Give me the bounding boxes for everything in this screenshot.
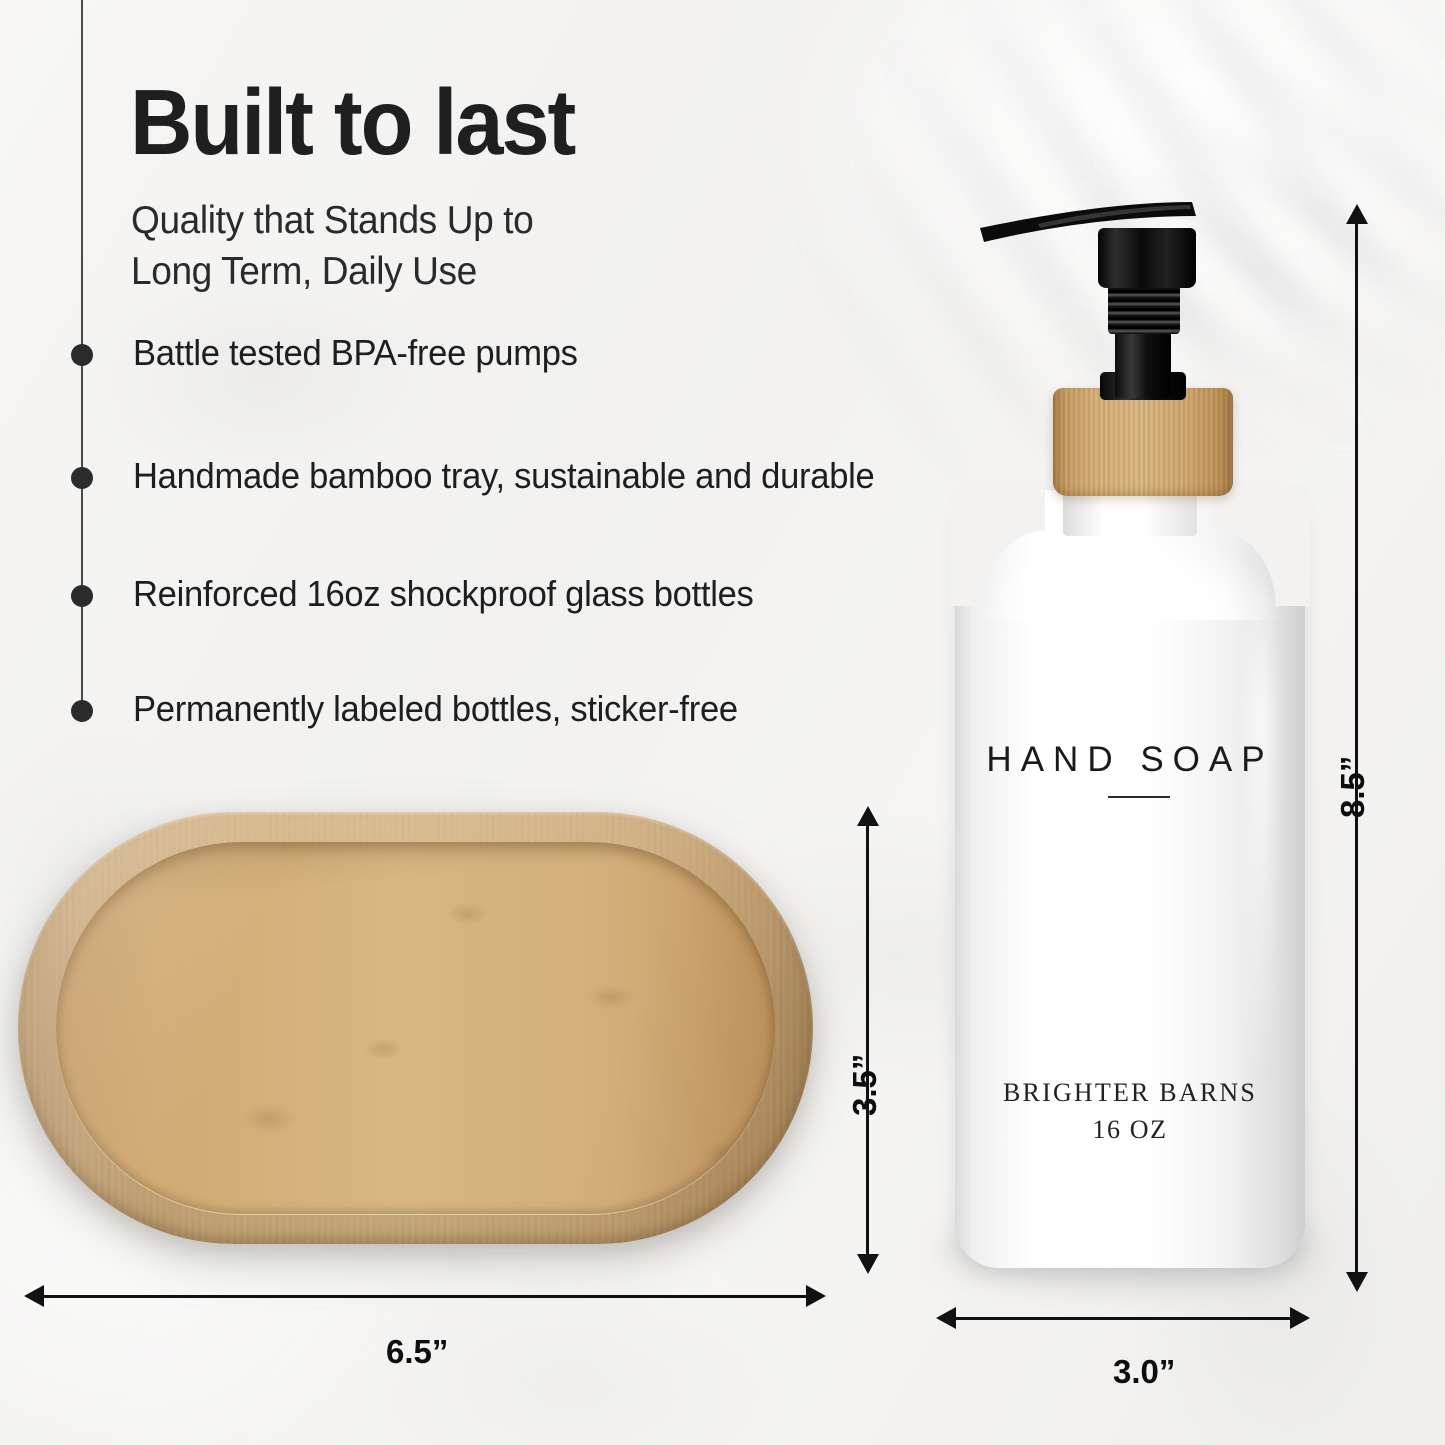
bottle-label-title: HAND SOAP bbox=[955, 740, 1305, 780]
arrow-head-right bbox=[1290, 1307, 1310, 1329]
dimension-label-bottle-width: 3.0” bbox=[1113, 1353, 1175, 1391]
grain-knot bbox=[700, 1140, 752, 1168]
dim-line-tray-height bbox=[866, 822, 869, 1260]
grain-knot bbox=[242, 1104, 298, 1134]
arrow-head-left bbox=[24, 1285, 44, 1307]
grain-knot bbox=[364, 1038, 404, 1060]
grain-knot bbox=[586, 984, 636, 1010]
dim-line-tray-width bbox=[40, 1295, 814, 1298]
dimension-label-tray-height: 3.5” bbox=[846, 1054, 884, 1116]
bullet-dot-icon bbox=[71, 344, 93, 366]
arrow-head-right bbox=[806, 1285, 826, 1307]
dimension-label-bottle-height: 8.5” bbox=[1334, 756, 1372, 818]
infographic-canvas: Built to last Quality that Stands Up to … bbox=[0, 0, 1445, 1445]
bottle-brand-name: BRIGHTER BARNS bbox=[955, 1078, 1305, 1108]
bottle-shoulder-curve-right bbox=[1215, 486, 1310, 606]
bottle-shoulder-curve-left bbox=[950, 486, 1045, 606]
pump-nozzle-icon bbox=[978, 200, 1200, 248]
arrow-head-left bbox=[936, 1307, 956, 1329]
bamboo-pump-collar bbox=[1053, 388, 1233, 496]
tray-inner-well bbox=[56, 842, 775, 1214]
list-item: Reinforced 16oz shockproof glass bottles bbox=[133, 573, 754, 615]
bamboo-tray-image bbox=[18, 812, 813, 1244]
collar-grain-texture bbox=[1053, 388, 1233, 496]
arrow-head-down bbox=[857, 1254, 879, 1274]
arrow-head-up bbox=[1346, 204, 1368, 224]
arrow-head-down bbox=[1346, 1272, 1368, 1292]
pump-shaft bbox=[1115, 326, 1171, 398]
list-item: Handmade bamboo tray, sustainable and du… bbox=[133, 455, 874, 497]
bullet-dot-icon bbox=[71, 700, 93, 722]
dim-line-bottle-height bbox=[1355, 220, 1358, 1278]
bullet-dot-icon bbox=[71, 585, 93, 607]
bottle-size-label: 16 OZ bbox=[955, 1115, 1305, 1145]
grain-knot bbox=[446, 902, 490, 926]
dim-line-bottle-width bbox=[952, 1317, 1298, 1320]
bullet-dot-icon bbox=[71, 467, 93, 489]
dimension-label-tray-width: 6.5” bbox=[386, 1333, 448, 1371]
list-item: Permanently labeled bottles, sticker-fre… bbox=[133, 688, 738, 730]
bottle-label-rule bbox=[1108, 796, 1170, 798]
list-item: Battle tested BPA-free pumps bbox=[133, 332, 578, 374]
arrow-head-up bbox=[857, 806, 879, 826]
bottle-highlight-right bbox=[1248, 560, 1274, 1080]
